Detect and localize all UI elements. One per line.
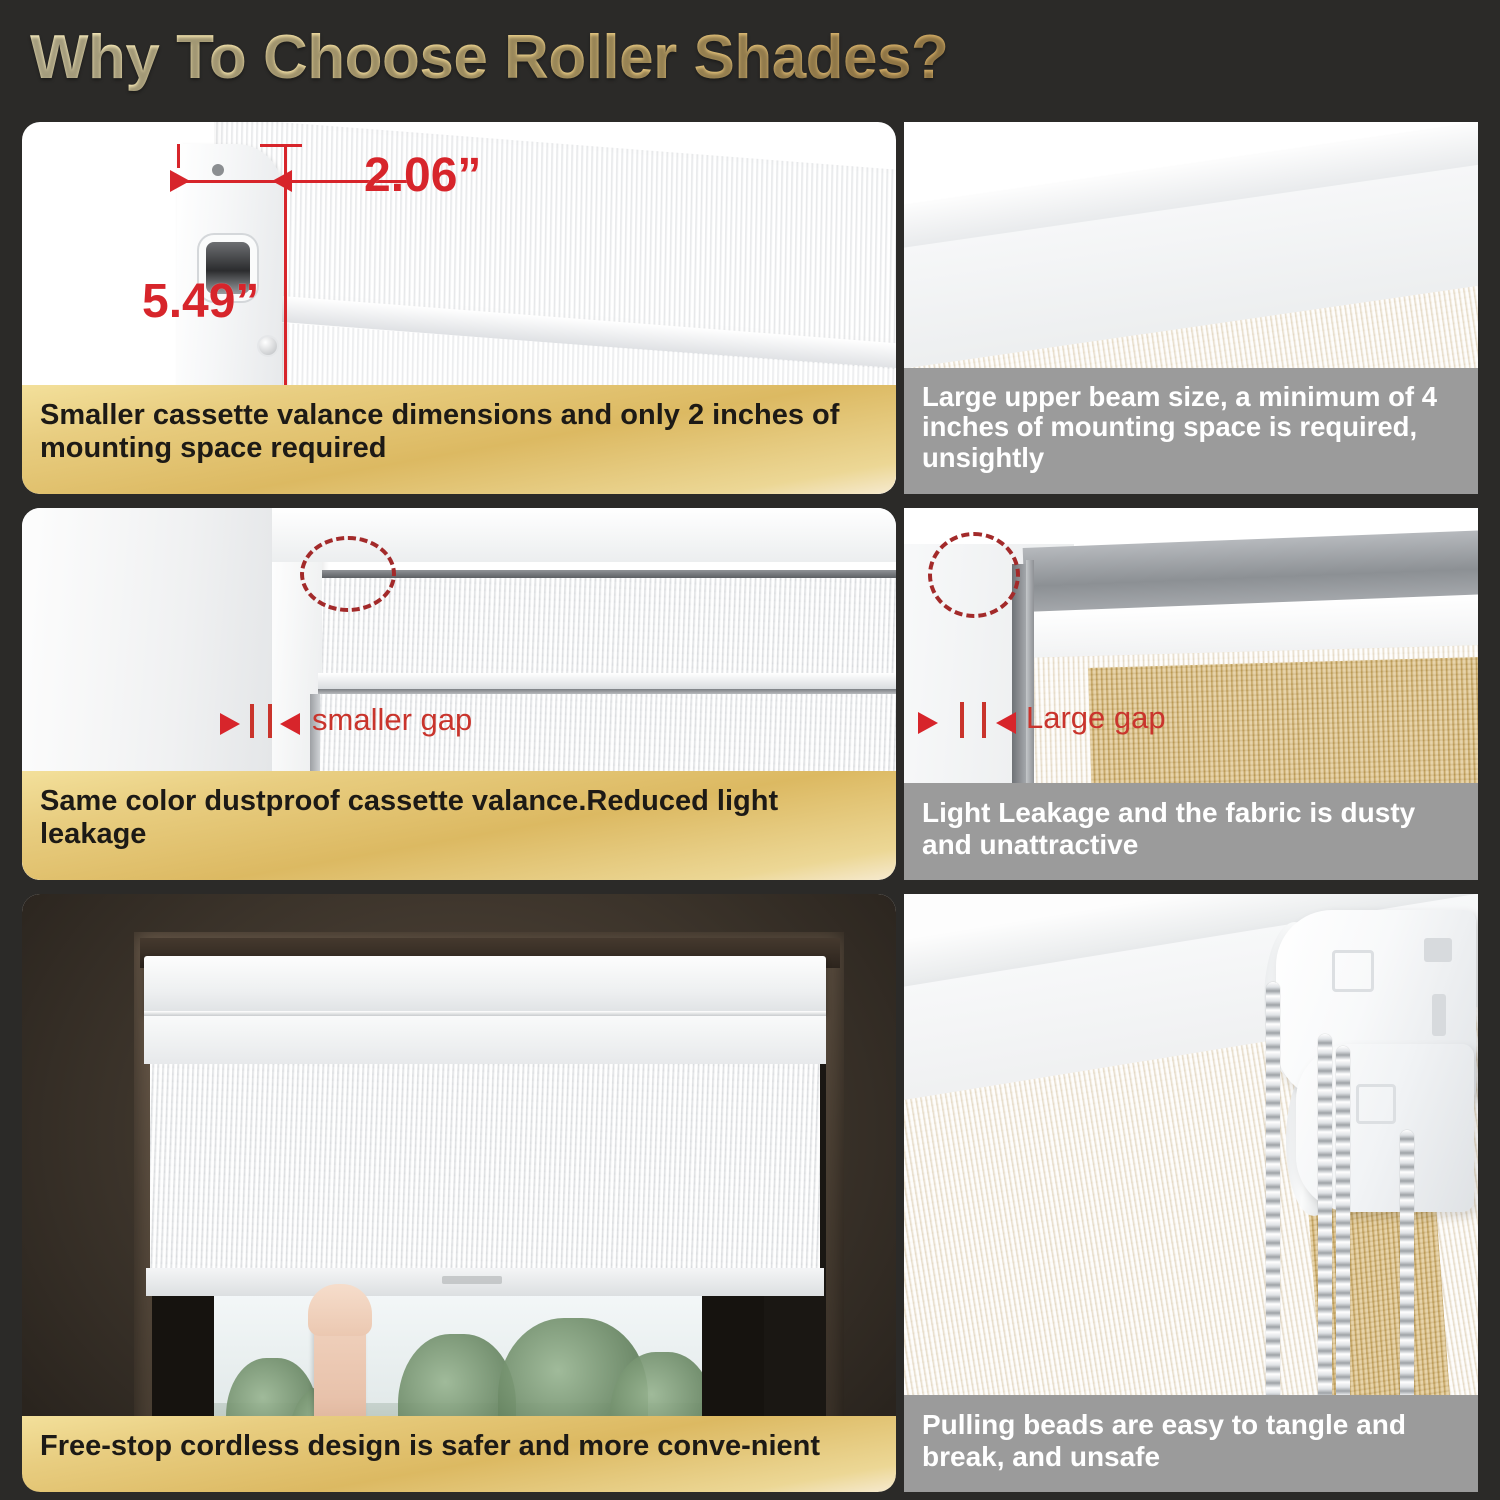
caption-cordless-design: Free-stop cordless design is safer and m… <box>22 1416 896 1492</box>
gap-marker-left <box>250 704 254 738</box>
gap-marker-left <box>960 702 964 738</box>
bracket-screw-upper <box>259 337 277 355</box>
brand-logo <box>442 1276 502 1284</box>
cassette-edge <box>322 570 896 578</box>
gap-arrow-right <box>996 712 1016 734</box>
gap-arrow-left <box>918 712 938 734</box>
caption-large-gap: Light Leakage and the fabric is dusty an… <box>904 783 1478 880</box>
shade-fabric <box>150 1064 820 1274</box>
valance-bar <box>318 673 896 689</box>
roller-tube <box>144 1016 826 1064</box>
bead-chain-3[interactable] <box>1336 1046 1350 1452</box>
fabric-upper <box>322 578 896 673</box>
product-image-room-window <box>22 894 896 1492</box>
hand-fingers <box>308 1284 372 1336</box>
bead-chain-2[interactable] <box>1318 1034 1332 1452</box>
panel-smaller-cassette: 2.06” 5.49” Smaller cassette valance dim… <box>22 122 896 494</box>
bracket-glyph-upper <box>1332 950 1374 992</box>
bracket-notch-2 <box>1432 994 1446 1036</box>
height-dimension-label: 5.49” <box>142 274 259 329</box>
caption-smaller-gap: Same color dustproof cassette valance.Re… <box>22 771 896 880</box>
dashed-highlight-circle <box>928 532 1020 618</box>
caption-pulling-beads: Pulling beads are easy to tangle and bre… <box>904 1395 1478 1492</box>
width-dimension-label: 2.06” <box>364 148 481 203</box>
panel-smaller-gap: smaller gap Same color dustproof cassett… <box>22 508 896 880</box>
panel-cordless-design: Free-stop cordless design is safer and m… <box>22 894 896 1492</box>
cassette-valance <box>144 956 826 1014</box>
bracket-glyph-lower <box>1356 1084 1396 1124</box>
page-title: Why To Choose Roller Shades? <box>30 18 1130 98</box>
gap-arrow-left <box>220 713 240 735</box>
side-rail-inner <box>1026 560 1034 796</box>
comparison-grid: 2.06” 5.49” Smaller cassette valance dim… <box>0 118 1500 1500</box>
bracket-pin <box>212 164 224 176</box>
page-header: Why To Choose Roller Shades? <box>30 18 1130 98</box>
gap-marker-right <box>268 704 272 738</box>
width-dim-arrow-left <box>170 170 190 192</box>
panel-large-beam: 4.00” 4.00” Large upper beam size, a min… <box>904 122 1478 494</box>
dashed-highlight-circle <box>300 536 396 612</box>
gap-marker-right <box>982 702 986 738</box>
panel-large-gap: Large gap Light Leakage and the fabric i… <box>904 508 1478 880</box>
side-rail-outer <box>1012 564 1026 796</box>
width-dim-tick-left <box>177 144 180 168</box>
bracket-notch-1 <box>1424 938 1452 962</box>
bead-chain-1[interactable] <box>1266 982 1280 1450</box>
caption-large-beam: Large upper beam size, a minimum of 4 in… <box>904 368 1478 494</box>
gap-label-smaller: smaller gap <box>312 702 472 738</box>
height-dim-tick-top <box>260 144 302 147</box>
width-dim-arrow-right <box>272 170 292 192</box>
panel-pulling-beads: Pulling beads are easy to tangle and bre… <box>904 894 1478 1492</box>
gap-label-large: Large gap <box>1026 700 1166 736</box>
caption-smaller-cassette: Smaller cassette valance dimensions and … <box>22 385 896 494</box>
gap-arrow-right <box>280 713 300 735</box>
